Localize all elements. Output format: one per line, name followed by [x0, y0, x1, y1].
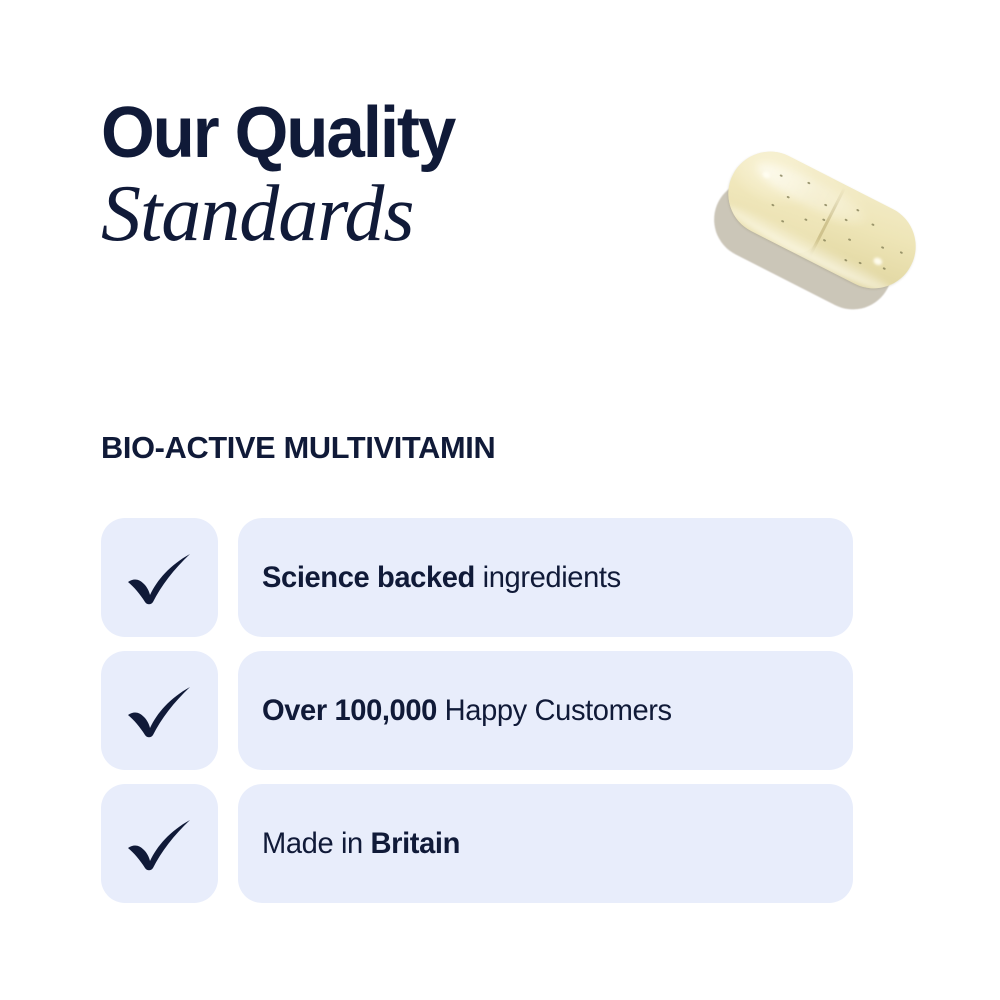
quality-standards-page: Our Quality Standards — [0, 0, 1000, 1000]
check-icon — [124, 681, 196, 741]
list-item: Made in Britain — [101, 784, 853, 903]
feature-label-1-rest: ingredients — [475, 561, 621, 594]
feature-label-3-plain: Made in — [262, 827, 371, 860]
page-title-line-2: Standards — [101, 172, 721, 256]
product-subhead: BIO-ACTIVE MULTIVITAMIN — [101, 429, 495, 467]
check-icon-box-3 — [101, 784, 218, 903]
list-item: Science backed ingredients — [101, 518, 853, 637]
check-icon — [124, 814, 196, 874]
capsule-pill-image — [690, 150, 970, 350]
feature-label-2-bold: Over 100,000 — [262, 694, 437, 727]
feature-label-1-bold: Science backed — [262, 561, 475, 594]
page-title: Our Quality Standards — [101, 96, 721, 256]
check-icon-box-2 — [101, 651, 218, 770]
feature-card-1: Science backed ingredients — [238, 518, 853, 637]
capsule-highlight-right — [872, 256, 883, 266]
check-icon-box-1 — [101, 518, 218, 637]
list-item: Over 100,000 Happy Customers — [101, 651, 853, 770]
feature-label-1: Science backed ingredients — [262, 560, 621, 596]
feature-card-2: Over 100,000 Happy Customers — [238, 651, 853, 770]
feature-label-3-bold: Britain — [371, 827, 460, 860]
feature-label-2: Over 100,000 Happy Customers — [262, 693, 672, 729]
feature-card-3: Made in Britain — [238, 784, 853, 903]
feature-label-3: Made in Britain — [262, 826, 460, 862]
feature-label-2-rest: Happy Customers — [437, 694, 672, 727]
check-icon — [124, 548, 196, 608]
page-title-line-1: Our Quality — [101, 96, 696, 170]
feature-list: Science backed ingredients Over 100,000 … — [101, 518, 853, 903]
